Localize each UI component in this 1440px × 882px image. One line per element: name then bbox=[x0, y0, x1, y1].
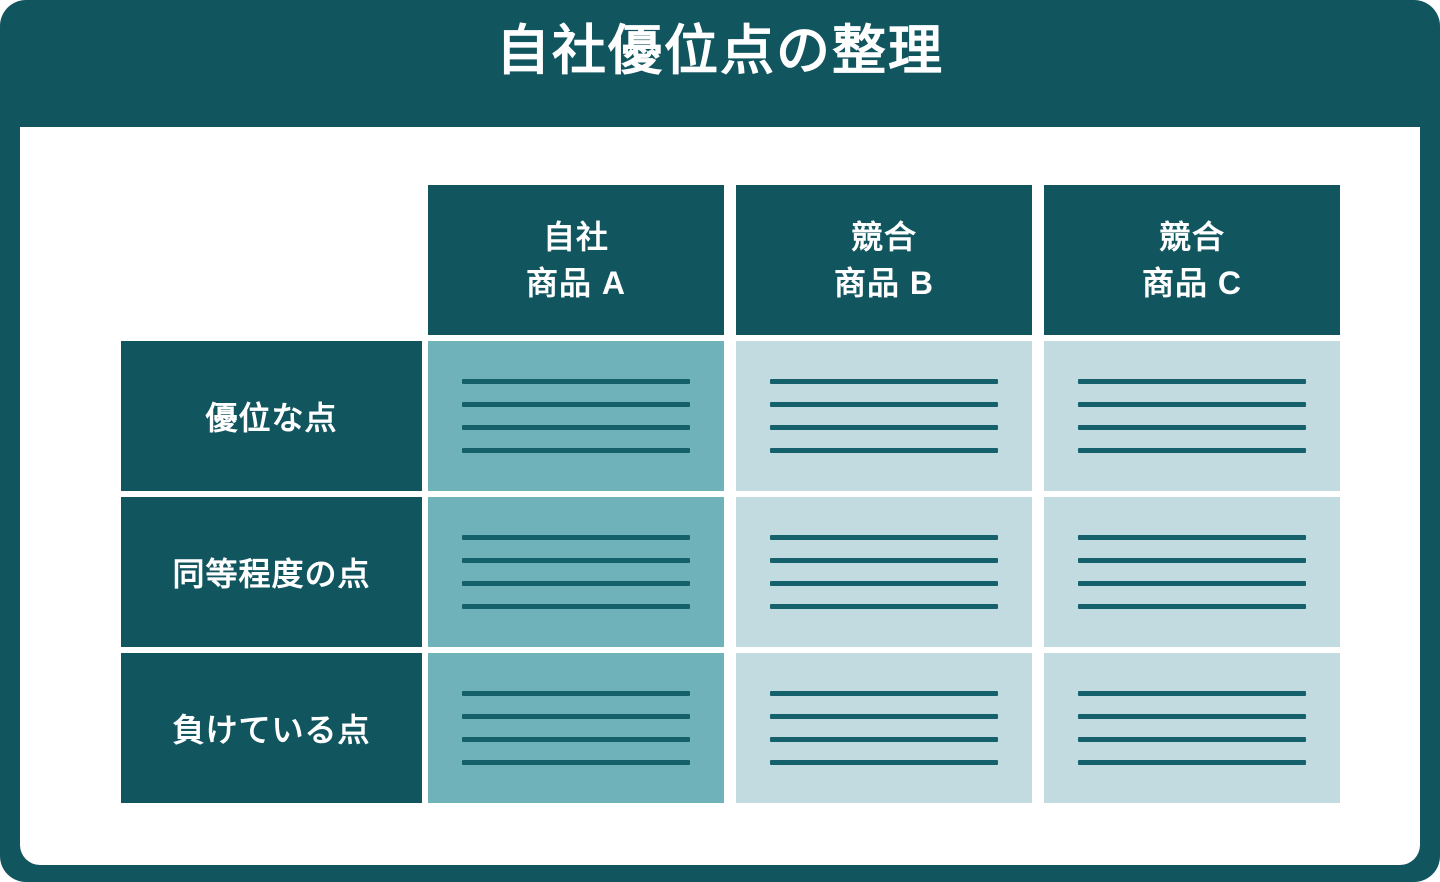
column-header-line1: 自社 bbox=[543, 214, 609, 260]
placeholder-line bbox=[462, 604, 690, 609]
matrix-row-disadvantages: 負けている点 bbox=[121, 653, 1339, 803]
column-header-line2: 商品 B bbox=[834, 260, 934, 306]
placeholder-line bbox=[462, 425, 690, 430]
placeholder-line bbox=[462, 379, 690, 384]
row-label-disadvantages[interactable]: 負けている点 bbox=[121, 653, 422, 803]
placeholder-line bbox=[462, 760, 690, 765]
content-card: 自社 商品 A 競合 商品 B 競合 商品 C 優位な点 bbox=[20, 127, 1420, 865]
placeholder-line bbox=[1078, 402, 1306, 407]
cell-advantages-competitor-product-c[interactable] bbox=[1044, 341, 1340, 491]
placeholder-line bbox=[770, 379, 998, 384]
placeholder-line bbox=[1078, 737, 1306, 742]
placeholder-line bbox=[1078, 714, 1306, 719]
placeholder-line bbox=[1078, 535, 1306, 540]
column-header-line1: 競合 bbox=[851, 214, 917, 260]
placeholder-line bbox=[1078, 760, 1306, 765]
placeholder-line bbox=[770, 558, 998, 563]
placeholder-line bbox=[1078, 691, 1306, 696]
placeholder-line bbox=[462, 558, 690, 563]
placeholder-line bbox=[770, 604, 998, 609]
placeholder-line bbox=[462, 691, 690, 696]
placeholder-line bbox=[462, 714, 690, 719]
column-header-own-product-a[interactable]: 自社 商品 A bbox=[428, 185, 724, 335]
placeholder-line bbox=[770, 402, 998, 407]
placeholder-line bbox=[770, 760, 998, 765]
column-header-competitor-product-b[interactable]: 競合 商品 B bbox=[736, 185, 1032, 335]
placeholder-line bbox=[462, 535, 690, 540]
cell-parity-competitor-product-b[interactable] bbox=[736, 497, 1032, 647]
matrix-row-parity: 同等程度の点 bbox=[121, 497, 1339, 647]
cell-advantages-own-product-a[interactable] bbox=[428, 341, 724, 491]
placeholder-line bbox=[462, 448, 690, 453]
cell-parity-competitor-product-c[interactable] bbox=[1044, 497, 1340, 647]
cell-parity-own-product-a[interactable] bbox=[428, 497, 724, 647]
column-header-competitor-product-c[interactable]: 競合 商品 C bbox=[1044, 185, 1340, 335]
placeholder-line bbox=[770, 581, 998, 586]
slide-root: 自社優位点の整理 自社 商品 A 競合 商品 B 競合 商品 C bbox=[0, 0, 1440, 882]
placeholder-line bbox=[462, 402, 690, 407]
comparison-matrix: 自社 商品 A 競合 商品 B 競合 商品 C 優位な点 bbox=[121, 185, 1339, 807]
row-label-parity[interactable]: 同等程度の点 bbox=[121, 497, 422, 647]
placeholder-line bbox=[462, 737, 690, 742]
cell-disadvantages-own-product-a[interactable] bbox=[428, 653, 724, 803]
placeholder-line bbox=[1078, 448, 1306, 453]
placeholder-line bbox=[462, 581, 690, 586]
matrix-header-row: 自社 商品 A 競合 商品 B 競合 商品 C bbox=[121, 185, 1339, 335]
placeholder-line bbox=[770, 535, 998, 540]
column-header-line2: 商品 C bbox=[1142, 260, 1242, 306]
cell-disadvantages-competitor-product-c[interactable] bbox=[1044, 653, 1340, 803]
matrix-row-advantages: 優位な点 bbox=[121, 341, 1339, 491]
row-label-advantages[interactable]: 優位な点 bbox=[121, 341, 422, 491]
placeholder-line bbox=[770, 691, 998, 696]
column-header-line1: 競合 bbox=[1159, 214, 1225, 260]
placeholder-line bbox=[1078, 581, 1306, 586]
placeholder-line bbox=[1078, 604, 1306, 609]
cell-advantages-competitor-product-b[interactable] bbox=[736, 341, 1032, 491]
placeholder-line bbox=[770, 425, 998, 430]
placeholder-line bbox=[770, 737, 998, 742]
placeholder-line bbox=[770, 448, 998, 453]
cell-disadvantages-competitor-product-b[interactable] bbox=[736, 653, 1032, 803]
placeholder-line bbox=[1078, 425, 1306, 430]
column-header-line2: 商品 A bbox=[526, 260, 626, 306]
page-title: 自社優位点の整理 bbox=[0, 18, 1440, 86]
placeholder-line bbox=[1078, 558, 1306, 563]
placeholder-line bbox=[770, 714, 998, 719]
matrix-corner-cell bbox=[121, 185, 422, 335]
placeholder-line bbox=[1078, 379, 1306, 384]
